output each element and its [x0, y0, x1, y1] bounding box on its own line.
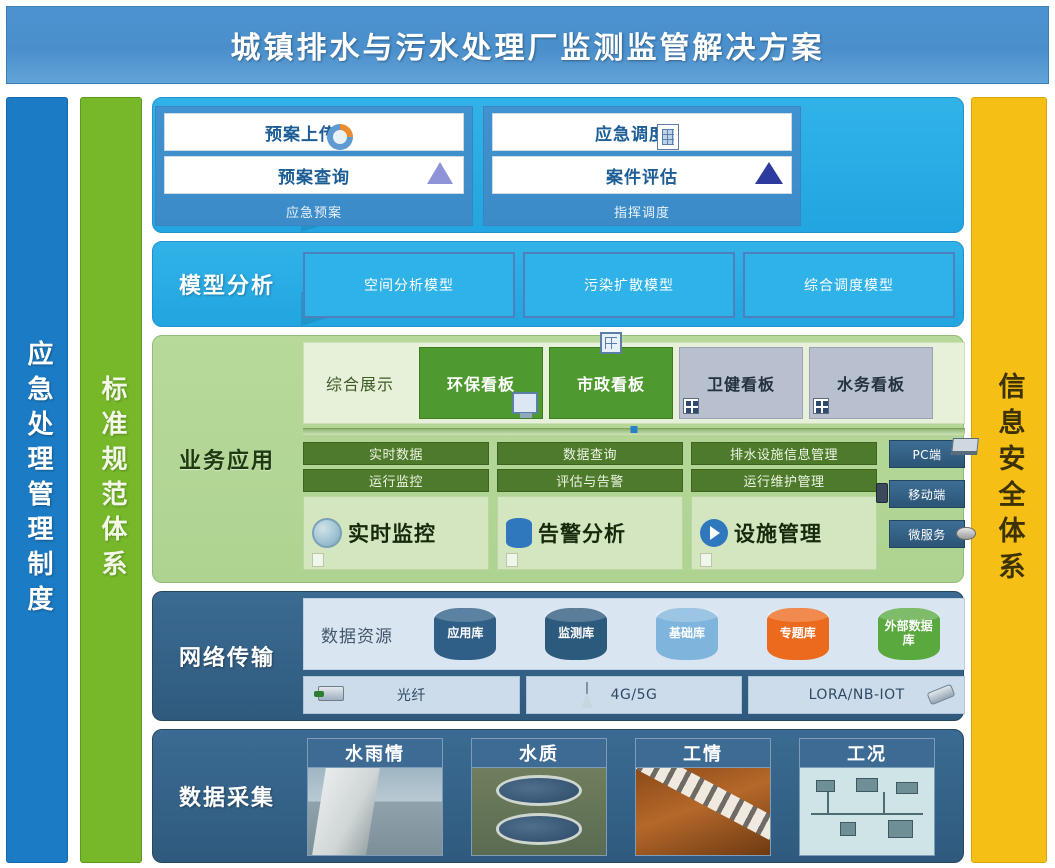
cable-icon [318, 686, 344, 701]
terminal-microservice-label: 微服务 [908, 526, 946, 543]
decision-group-emergency-plan: 预案上传 预案查询 应急预案 [155, 106, 473, 226]
business-tag-evaluation-alarm[interactable]: 评估与告警 [497, 469, 683, 492]
monitor-icon [512, 392, 538, 414]
collection-card-rainfall[interactable]: 水雨情 [307, 738, 443, 856]
terminal-pc[interactable]: PC端 [889, 440, 965, 468]
phone-icon [876, 483, 888, 503]
data-resource-title: 数据资源 [304, 622, 410, 647]
terminal-mobile-label: 移动端 [908, 486, 946, 503]
terminal-mobile[interactable]: 移动端 [889, 480, 965, 508]
pillar-standard-system-label: 标准规范体系 [96, 375, 126, 585]
business-tag-operation-monitoring[interactable]: 运行监控 [303, 469, 489, 492]
mouse-icon [956, 527, 976, 540]
model-box-pollution-diffusion[interactable]: 污染扩散模型 [523, 252, 735, 318]
layer-network-transmission-label: 网络传输 [153, 592, 301, 720]
terminal-pc-label: PC端 [912, 446, 941, 463]
database-external-label: 外部数据库 [878, 620, 940, 648]
business-tag-realtime-data[interactable]: 实时数据 [303, 442, 489, 465]
collection-card-water-quality-label: 水质 [471, 738, 607, 768]
dashboard-card-municipal[interactable]: 市政看板 [549, 347, 673, 419]
network-body: 数据资源 应用库 监测库 基础库 专题库 [301, 592, 963, 720]
solution-architecture-diagram: 城镇排水与污水处理厂监测监管解决方案 应急处理管理制度 标准规范体系 信息安全体… [0, 0, 1055, 868]
dashboard-card-environment[interactable]: 环保看板 [419, 347, 543, 419]
decision-item-plan-query[interactable]: 预案查询 [164, 156, 464, 194]
decision-item-plan-upload[interactable]: 预案上传 [164, 113, 464, 151]
pillar-emergency-policy-label: 应急处理管理制度 [22, 340, 52, 620]
clarifier-photo [471, 768, 607, 856]
business-tag-data-query[interactable]: 数据查询 [497, 442, 683, 465]
database-basic[interactable]: 基础库 [656, 608, 718, 660]
decision-item-case-evaluation-label: 案件评估 [606, 163, 678, 188]
pillar-standard-system: 标准规范体系 [80, 97, 142, 863]
transmission-fiber-label: 光纤 [397, 685, 426, 705]
business-column-facility: 排水设施信息管理 运行维护管理 设施管理 [691, 442, 877, 572]
business-tag-operation-maintenance[interactable]: 运行维护管理 [691, 469, 877, 492]
layer-model-analysis-label: 模型分析 [153, 242, 301, 326]
decision-group-emergency-plan-caption: 应急预案 [164, 199, 464, 223]
collection-card-water-quality[interactable]: 水质 [471, 738, 607, 856]
layer-network-transmission: 网络传输 数据资源 应用库 监测库 基础库 [152, 591, 964, 721]
collection-card-operating-condition[interactable]: 工况 [799, 738, 935, 856]
business-feature-facility-management-label: 设施管理 [734, 518, 822, 548]
database-application[interactable]: 应用库 [434, 608, 496, 660]
transmission-row: 光纤 4G/5G LORA/NB-IOT [303, 676, 965, 714]
grid-icon [600, 332, 622, 354]
collection-card-operating-condition-label: 工况 [799, 738, 935, 768]
database-external[interactable]: 外部数据库 [878, 608, 940, 660]
database-monitoring-label: 监测库 [556, 627, 596, 641]
dashboard-card-municipal-label: 市政看板 [577, 371, 645, 395]
business-feature-alarm-analysis[interactable]: 告警分析 [497, 496, 683, 570]
broken-image-icon [813, 398, 829, 414]
business-feature-realtime-monitoring-label: 实时监控 [348, 518, 436, 548]
dashboard-card-health[interactable]: 卫健看板 [679, 347, 803, 419]
pipeline-photo [635, 768, 771, 856]
business-column-monitoring: 实时数据 运行监控 实时监控 [303, 442, 489, 572]
document-corner-icon [700, 553, 712, 567]
globe-icon [312, 518, 342, 548]
database-thematic[interactable]: 专题库 [767, 608, 829, 660]
transmission-fiber[interactable]: 光纤 [303, 676, 520, 714]
module-icon [927, 684, 956, 706]
cylinder-icon [506, 518, 532, 548]
business-feature-realtime-monitoring[interactable]: 实时监控 [303, 496, 489, 570]
transmission-lora-nbiot-label: LORA/NB-IOT [809, 687, 905, 703]
business-feature-alarm-analysis-label: 告警分析 [538, 518, 626, 548]
decision-item-emergency-dispatch[interactable]: 应急调度 [492, 113, 792, 151]
database-application-label: 应用库 [445, 627, 485, 641]
dashboard-strip: 综合展示 环保看板 市政看板 卫健看板 水务看板 [303, 342, 965, 424]
channel-photo [307, 768, 443, 856]
terminal-microservice[interactable]: 微服务 [889, 520, 965, 548]
business-tag-drainage-facility-info[interactable]: 排水设施信息管理 [691, 442, 877, 465]
dashboard-card-environment-label: 环保看板 [447, 371, 515, 395]
decision-group-command-dispatch-caption: 指挥调度 [492, 199, 792, 223]
refresh-globe-icon [327, 124, 353, 150]
model-box-container: 空间分析模型 污染扩散模型 综合调度模型 [301, 242, 963, 326]
collection-body: 水雨情 水质 工情 工况 [301, 730, 963, 862]
database-basic-label: 基础库 [667, 627, 707, 641]
table-grid-icon [657, 124, 679, 150]
document-corner-icon [506, 553, 518, 567]
document-corner-icon [312, 553, 324, 567]
decision-item-case-evaluation[interactable]: 案件评估 [492, 156, 792, 194]
dashboard-strip-title: 综合展示 [304, 343, 416, 423]
page-title-bar: 城镇排水与污水处理厂监测监管解决方案 [6, 6, 1049, 84]
decision-item-plan-upload-label: 预案上传 [265, 120, 337, 145]
collection-card-engineering[interactable]: 工情 [635, 738, 771, 856]
data-resource-strip: 数据资源 应用库 监测库 基础库 专题库 [303, 598, 965, 670]
layer-decision-support: 决策支持 预案上传 预案查询 应急预案 应急调度 案 [152, 97, 964, 233]
layer-data-collection-label: 数据采集 [153, 730, 301, 862]
pyramid-light-icon [427, 162, 453, 188]
model-box-integrated-dispatch[interactable]: 综合调度模型 [743, 252, 955, 318]
collection-card-engineering-label: 工情 [635, 738, 771, 768]
play-icon [700, 519, 728, 547]
dashboard-divider [303, 428, 965, 435]
scada-photo [799, 768, 935, 856]
transmission-lora-nbiot[interactable]: LORA/NB-IOT [748, 676, 965, 714]
dashboard-card-water-affairs-label: 水务看板 [837, 371, 905, 395]
transmission-4g5g-label: 4G/5G [611, 687, 658, 703]
broken-image-icon [683, 398, 699, 414]
database-container: 应用库 监测库 基础库 专题库 外部数据库 [410, 608, 964, 660]
dashboard-card-water-affairs[interactable]: 水务看板 [809, 347, 933, 419]
layer-model-analysis: 模型分析 空间分析模型 污染扩散模型 综合调度模型 [152, 241, 964, 327]
database-thematic-label: 专题库 [778, 627, 818, 641]
database-monitoring[interactable]: 监测库 [545, 608, 607, 660]
laptop-icon [951, 438, 979, 455]
terminal-column: PC端 移动端 微服务 [889, 440, 965, 570]
layer-stack: 决策支持 预案上传 预案查询 应急预案 应急调度 案 [152, 97, 964, 863]
transmission-4g5g[interactable]: 4G/5G [526, 676, 743, 714]
decision-item-plan-query-label: 预案查询 [278, 163, 350, 188]
decision-group-command-dispatch: 应急调度 案件评估 指挥调度 [483, 106, 801, 226]
dashboard-card-health-label: 卫健看板 [707, 371, 775, 395]
business-body: 综合展示 环保看板 市政看板 卫健看板 水务看板 [301, 336, 963, 582]
layer-business-application-label: 业务应用 [153, 336, 301, 582]
pillar-information-security: 信息安全体系 [971, 97, 1047, 863]
pyramid-dark-icon [755, 162, 781, 188]
pillar-emergency-policy: 应急处理管理制度 [6, 97, 68, 863]
layer-data-collection: 数据采集 水雨情 水质 工情 工 [152, 729, 964, 863]
pillar-information-security-label: 信息安全体系 [993, 372, 1024, 588]
page-title: 城镇排水与污水处理厂监测监管解决方案 [231, 23, 825, 67]
business-feature-facility-management[interactable]: 设施管理 [691, 496, 877, 570]
layer-business-application: 业务应用 综合展示 环保看板 市政看板 卫健看板 [152, 335, 964, 583]
antenna-icon [579, 682, 595, 708]
business-column-alarm: 数据查询 评估与告警 告警分析 [497, 442, 683, 572]
collection-card-rainfall-label: 水雨情 [307, 738, 443, 768]
model-box-spatial[interactable]: 空间分析模型 [303, 252, 515, 318]
